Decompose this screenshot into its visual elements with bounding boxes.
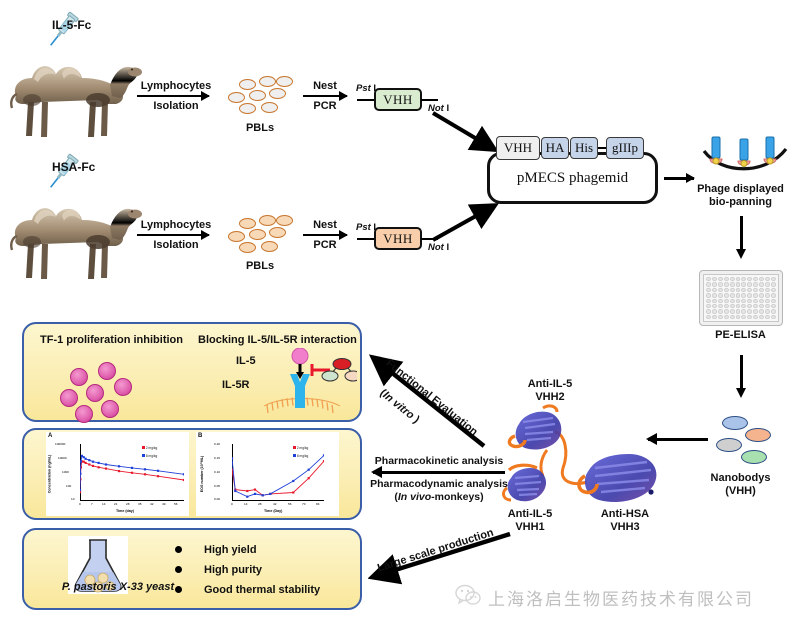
- chart-a-ylabel: Concentration (ng/mL): [47, 455, 51, 494]
- elisa-well: [706, 293, 711, 297]
- elisa-well: [753, 309, 758, 313]
- chart-series-line: [80, 461, 184, 492]
- chart-data-point: [92, 465, 94, 467]
- chart-data-point: [254, 489, 256, 491]
- elisa-well: [736, 304, 741, 308]
- chart-data-point: [83, 461, 85, 463]
- phagemid-segment-giiip: gIIIp: [606, 137, 644, 159]
- elisa-well: [718, 293, 723, 297]
- chart-a-xtick-0: 0: [79, 502, 81, 506]
- elisa-well: [765, 293, 770, 297]
- chart-b-xtick-70: 70: [302, 502, 305, 506]
- elisa-well: [741, 293, 746, 297]
- elisa-well: [747, 309, 752, 313]
- phagemid-segment-ha: HA: [541, 137, 569, 159]
- chart-b-ytick-010: 0.10: [214, 470, 220, 474]
- elisa-well: [747, 282, 752, 286]
- gene-box-vhh-2: VHH: [374, 227, 422, 250]
- elisa-well: [771, 293, 776, 297]
- elisa-well: [724, 288, 729, 292]
- bullet-2: [175, 566, 182, 573]
- cells-label-pbls-2: PBLs: [225, 260, 295, 272]
- elisa-well: [712, 282, 717, 286]
- step-label-nest-1: Nest: [301, 80, 349, 92]
- chart-data-point: [83, 456, 85, 458]
- arrow-lymphocyte-isolation-1: [137, 95, 209, 97]
- elisa-well: [771, 277, 776, 281]
- chart-data-point: [323, 454, 324, 456]
- nanobody-ellipse-1: [722, 416, 748, 430]
- chart-data-point: [80, 489, 81, 491]
- chart-data-point: [105, 463, 107, 465]
- chart-a-plot: [80, 444, 184, 501]
- elisa-well: [753, 277, 758, 281]
- wechat-icon: [455, 583, 481, 607]
- chart-a-ytick-2: 100: [66, 484, 71, 488]
- structure-label-vhh1-line1: Anti-IL-5: [490, 508, 570, 520]
- cells-label-pbls-1: PBLs: [225, 122, 295, 134]
- chart-data-point: [308, 469, 310, 471]
- arrow-pk-pd: [373, 471, 505, 474]
- elisa-well: [712, 293, 717, 297]
- elisa-well: [724, 309, 729, 313]
- elisa-well: [730, 304, 735, 308]
- feature-2: High purity: [204, 564, 262, 576]
- label-pharmacokinetic-analysis: Pharmacokinetic analysis: [366, 455, 512, 467]
- elisa-plate: [699, 270, 783, 326]
- panel-invitro-left-title: TF-1 proliferation inhibition: [40, 334, 183, 346]
- chart-data-point: [85, 458, 87, 460]
- elisa-well: [736, 299, 741, 303]
- panning-label-line1: Phage displayed: [690, 183, 791, 195]
- chart-data-point: [246, 490, 248, 492]
- elisa-well: [718, 309, 723, 313]
- step-label-nest-2: Nest: [301, 219, 349, 231]
- elisa-well: [759, 299, 764, 303]
- elisa-well: [759, 277, 764, 281]
- chart-a: A 100000 10000 1000 100 10 0 7 14 21 28 …: [46, 432, 189, 516]
- arrow-to-elisa: [740, 216, 743, 250]
- elisa-well: [706, 282, 711, 286]
- structure-label-vhh3-line2: VHH3: [585, 521, 665, 533]
- elisa-well: [741, 315, 746, 319]
- chart-data-point: [92, 461, 94, 463]
- elisa-well: [741, 288, 746, 292]
- chart-data-point: [183, 473, 184, 475]
- bullet-1: [175, 546, 182, 553]
- chart-data-point: [105, 468, 107, 470]
- elisa-well: [706, 299, 711, 303]
- elisa-well: [747, 304, 752, 308]
- elisa-well: [765, 277, 770, 281]
- elisa-well: [759, 315, 764, 319]
- elisa-well: [741, 282, 746, 286]
- camel-icon: [2, 38, 142, 148]
- elisa-well: [765, 299, 770, 303]
- elisa-well: [712, 288, 717, 292]
- elisa-well: [771, 309, 776, 313]
- chart-data-point: [246, 496, 248, 498]
- bullet-3: [175, 586, 182, 593]
- arrow-to-nanobodies: [740, 355, 743, 389]
- chart-data-point: [183, 479, 184, 481]
- chart-data-point: [262, 494, 264, 496]
- chart-b-xtick-56: 56: [288, 502, 291, 506]
- elisa-well: [730, 288, 735, 292]
- gene-line-left-1: [357, 99, 375, 101]
- elisa-well: [747, 288, 752, 292]
- elisa-well: [706, 288, 711, 292]
- chart-b-ytick-005: 0.05: [214, 484, 220, 488]
- antigen-label-il5fc: IL-5-Fc: [52, 18, 91, 32]
- elisa-well: [741, 304, 746, 308]
- chart-data-point: [308, 477, 310, 479]
- chart-b-xtick-42: 42: [273, 502, 276, 506]
- elisa-well: [736, 277, 741, 281]
- chart-data-point: [98, 462, 100, 464]
- label-invivo-monkeys: (In vivo-monkeys): [366, 491, 512, 503]
- chart-data-point: [157, 475, 159, 477]
- chart-data-point: [292, 491, 294, 493]
- chart-a-xtick-49: 49: [162, 502, 165, 506]
- chart-b-xtick-28: 28: [258, 502, 261, 506]
- elisa-well: [759, 288, 764, 292]
- chart-data-point: [85, 462, 87, 464]
- chart-a-xtick-21: 21: [114, 502, 117, 506]
- chart-series-line: [232, 461, 324, 495]
- chart-a-panel-mark: A: [48, 433, 52, 439]
- chart-data-point: [157, 470, 159, 472]
- elisa-well: [730, 293, 735, 297]
- chart-data-point: [131, 472, 133, 474]
- chart-a-xtick-7: 7: [91, 502, 93, 506]
- antigen-label-hsafc: HSA-Fc: [52, 160, 95, 174]
- elisa-well: [730, 309, 735, 313]
- chart-data-point: [269, 493, 271, 495]
- elisa-well: [765, 282, 770, 286]
- elisa-well: [718, 315, 723, 319]
- arrow-nest-pcr-2: [303, 234, 347, 236]
- structure-label-vhh2-line2: VHH2: [505, 391, 595, 403]
- chart-data-point: [323, 460, 324, 462]
- elisa-well: [718, 282, 723, 286]
- chart-b-ytick-020: 0.20: [214, 442, 220, 446]
- elisa-well: [730, 282, 735, 286]
- step-label-lymphocytes-1: Lymphocytes: [137, 80, 215, 92]
- step-label-pcr-2: PCR: [301, 239, 349, 251]
- footer-company-name: 上海洛启生物医药技术有限公司: [488, 585, 754, 610]
- nanobody-ellipse-2: [745, 428, 771, 442]
- receptor-label-il5r: IL-5R: [222, 379, 250, 391]
- step-label-lymphocytes-2: Lymphocytes: [137, 219, 215, 231]
- gene-line-left-2: [357, 238, 375, 240]
- elisa-well: [765, 315, 770, 319]
- chart-b-ytick-000: 0.00: [214, 497, 220, 501]
- elisa-well: [765, 304, 770, 308]
- panning-label-line2: bio-panning: [690, 196, 791, 208]
- elisa-well: [736, 288, 741, 292]
- elisa-well: [706, 277, 711, 281]
- elisa-well: [706, 309, 711, 313]
- elisa-well: [771, 288, 776, 292]
- elisa-well: [747, 277, 752, 281]
- elisa-well: [759, 304, 764, 308]
- chart-data-point: [98, 466, 100, 468]
- elisa-well: [706, 315, 711, 319]
- elisa-well: [724, 282, 729, 286]
- chart-b-xtick-14: 14: [244, 502, 247, 506]
- gene-line-right-1: [421, 99, 438, 101]
- arrow-to-panning: [664, 177, 694, 180]
- organism-label: P. pastoris X-33 yeast: [48, 581, 188, 593]
- elisa-well: [724, 304, 729, 308]
- elisa-well: [771, 299, 776, 303]
- chart-b-ytick-015: 0.15: [214, 456, 220, 460]
- elisa-well: [730, 315, 735, 319]
- elisa-well: [718, 288, 723, 292]
- phagemid-segment-vhh: VHH: [496, 136, 540, 160]
- structure-label-vhh3-line1: Anti-HSA: [585, 508, 665, 520]
- elisa-well: [759, 309, 764, 313]
- chart-data-point: [88, 463, 90, 465]
- feature-3: Good thermal stability: [204, 584, 320, 596]
- feature-1: High yield: [204, 544, 257, 556]
- step-label-isolation-2: Isolation: [137, 239, 215, 251]
- organism-name: P. pastoris X-33 yeast: [62, 581, 174, 593]
- elisa-well: [706, 304, 711, 308]
- chart-a-xtick-35: 35: [138, 502, 141, 506]
- chart-data-point: [80, 491, 81, 493]
- step-label-isolation-1: Isolation: [137, 100, 215, 112]
- elisa-well: [753, 304, 758, 308]
- elisa-well: [736, 293, 741, 297]
- elisa-well: [736, 315, 741, 319]
- elisa-well: [736, 282, 741, 286]
- elisa-well: [771, 282, 776, 286]
- chart-a-xtick-14: 14: [102, 502, 105, 506]
- elisa-well: [736, 309, 741, 313]
- phagemid-linker: [598, 147, 606, 149]
- chart-data-point: [118, 470, 120, 472]
- chart-data-point: [144, 473, 146, 475]
- gene-box-vhh-1: VHH: [374, 88, 422, 111]
- chart-data-point: [234, 490, 236, 492]
- elisa-well: [771, 315, 776, 319]
- elisa-well: [759, 282, 764, 286]
- elisa-well: [718, 304, 723, 308]
- elisa-well: [741, 309, 746, 313]
- elisa-well: [741, 277, 746, 281]
- elisa-well: [712, 277, 717, 281]
- chart-a-xlabel: Time (day): [116, 509, 134, 513]
- bio-panning-icon: [700, 135, 790, 180]
- panel-invitro-right-title: Blocking IL-5/IL-5R interaction: [198, 334, 357, 346]
- chart-b-panel-mark: B: [198, 433, 202, 439]
- elisa-well: [724, 299, 729, 303]
- structure-label-vhh2-line1: Anti-IL-5: [505, 378, 595, 390]
- camel-icon-2: [2, 180, 142, 290]
- phagemid-segment-his: His: [570, 137, 598, 159]
- chart-a-ytick-4: 10000: [58, 456, 67, 460]
- nanobody-ellipse-3: [716, 438, 742, 452]
- elisa-well: [753, 288, 758, 292]
- elisa-well: [724, 293, 729, 297]
- elisa-well: [712, 315, 717, 319]
- arrow-nest-pcr-1: [303, 95, 347, 97]
- chart-b-xlabel: Time (Day): [264, 509, 282, 513]
- elisa-well: [741, 299, 746, 303]
- elisa-well: [747, 299, 752, 303]
- chart-b-xtick-0: 0: [231, 502, 233, 506]
- elisa-well: [724, 315, 729, 319]
- chart-data-point: [292, 480, 294, 482]
- chart-data-point: [80, 473, 82, 475]
- elisa-well: [712, 304, 717, 308]
- chart-data-point: [88, 459, 90, 461]
- chart-b-plot: [232, 444, 324, 501]
- elisa-well: [753, 299, 758, 303]
- chart-b-ylabel: EOS number (10^9/L): [200, 456, 204, 492]
- chart-data-point: [254, 493, 256, 495]
- chart-a-xtick-28: 28: [126, 502, 129, 506]
- chart-data-point: [131, 467, 133, 469]
- figure-canvas: IL-5-Fc: [0, 0, 791, 631]
- elisa-well: [718, 299, 723, 303]
- chart-a-ytick-5: 100000: [55, 442, 65, 446]
- elisa-well: [718, 277, 723, 281]
- chart-data-point: [232, 457, 233, 459]
- chart-a-ytick-3: 1000: [62, 470, 69, 474]
- chart-a-xtick-56: 56: [174, 502, 177, 506]
- elisa-well: [730, 299, 735, 303]
- step-label-pcr-1: PCR: [301, 100, 349, 112]
- nanobody-label-line2: (VHH): [690, 485, 791, 497]
- chart-a-ytick-1: 10: [71, 497, 74, 501]
- nanobody-label-line1: Nanobodys: [690, 472, 791, 484]
- il5-blocking-diagram: [262, 348, 357, 418]
- arrow-lymphocyte-isolation-2: [137, 234, 209, 236]
- chart-b-xtick-84: 84: [316, 502, 319, 506]
- elisa-well: [753, 293, 758, 297]
- elisa-well: [730, 277, 735, 281]
- phagemid-name: pMECS phagemid: [487, 170, 658, 187]
- elisa-well: [747, 293, 752, 297]
- chart-data-point: [144, 468, 146, 470]
- elisa-well: [753, 282, 758, 286]
- chart-data-point: [80, 460, 82, 462]
- elisa-well: [747, 315, 752, 319]
- elisa-well: [753, 315, 758, 319]
- elisa-well: [765, 309, 770, 313]
- elisa-well: [712, 299, 717, 303]
- nanobody-structure-figure: [495, 390, 665, 520]
- label-pharmacodynamic-analysis: Pharmacodynamic analysis: [366, 478, 512, 490]
- elisa-well: [724, 277, 729, 281]
- elisa-well: [771, 304, 776, 308]
- nanobody-ellipse-4: [741, 450, 767, 464]
- elisa-well: [765, 288, 770, 292]
- chart-b: B 0.20 0.15 0.10 0.05 0.00 0 14 28 42 56…: [196, 432, 339, 516]
- elisa-label: PE-ELISA: [690, 329, 791, 341]
- chart-data-point: [118, 465, 120, 467]
- chart-a-xtick-42: 42: [150, 502, 153, 506]
- ligand-label-il5: IL-5: [236, 355, 256, 367]
- elisa-well: [759, 293, 764, 297]
- elisa-well: [712, 309, 717, 313]
